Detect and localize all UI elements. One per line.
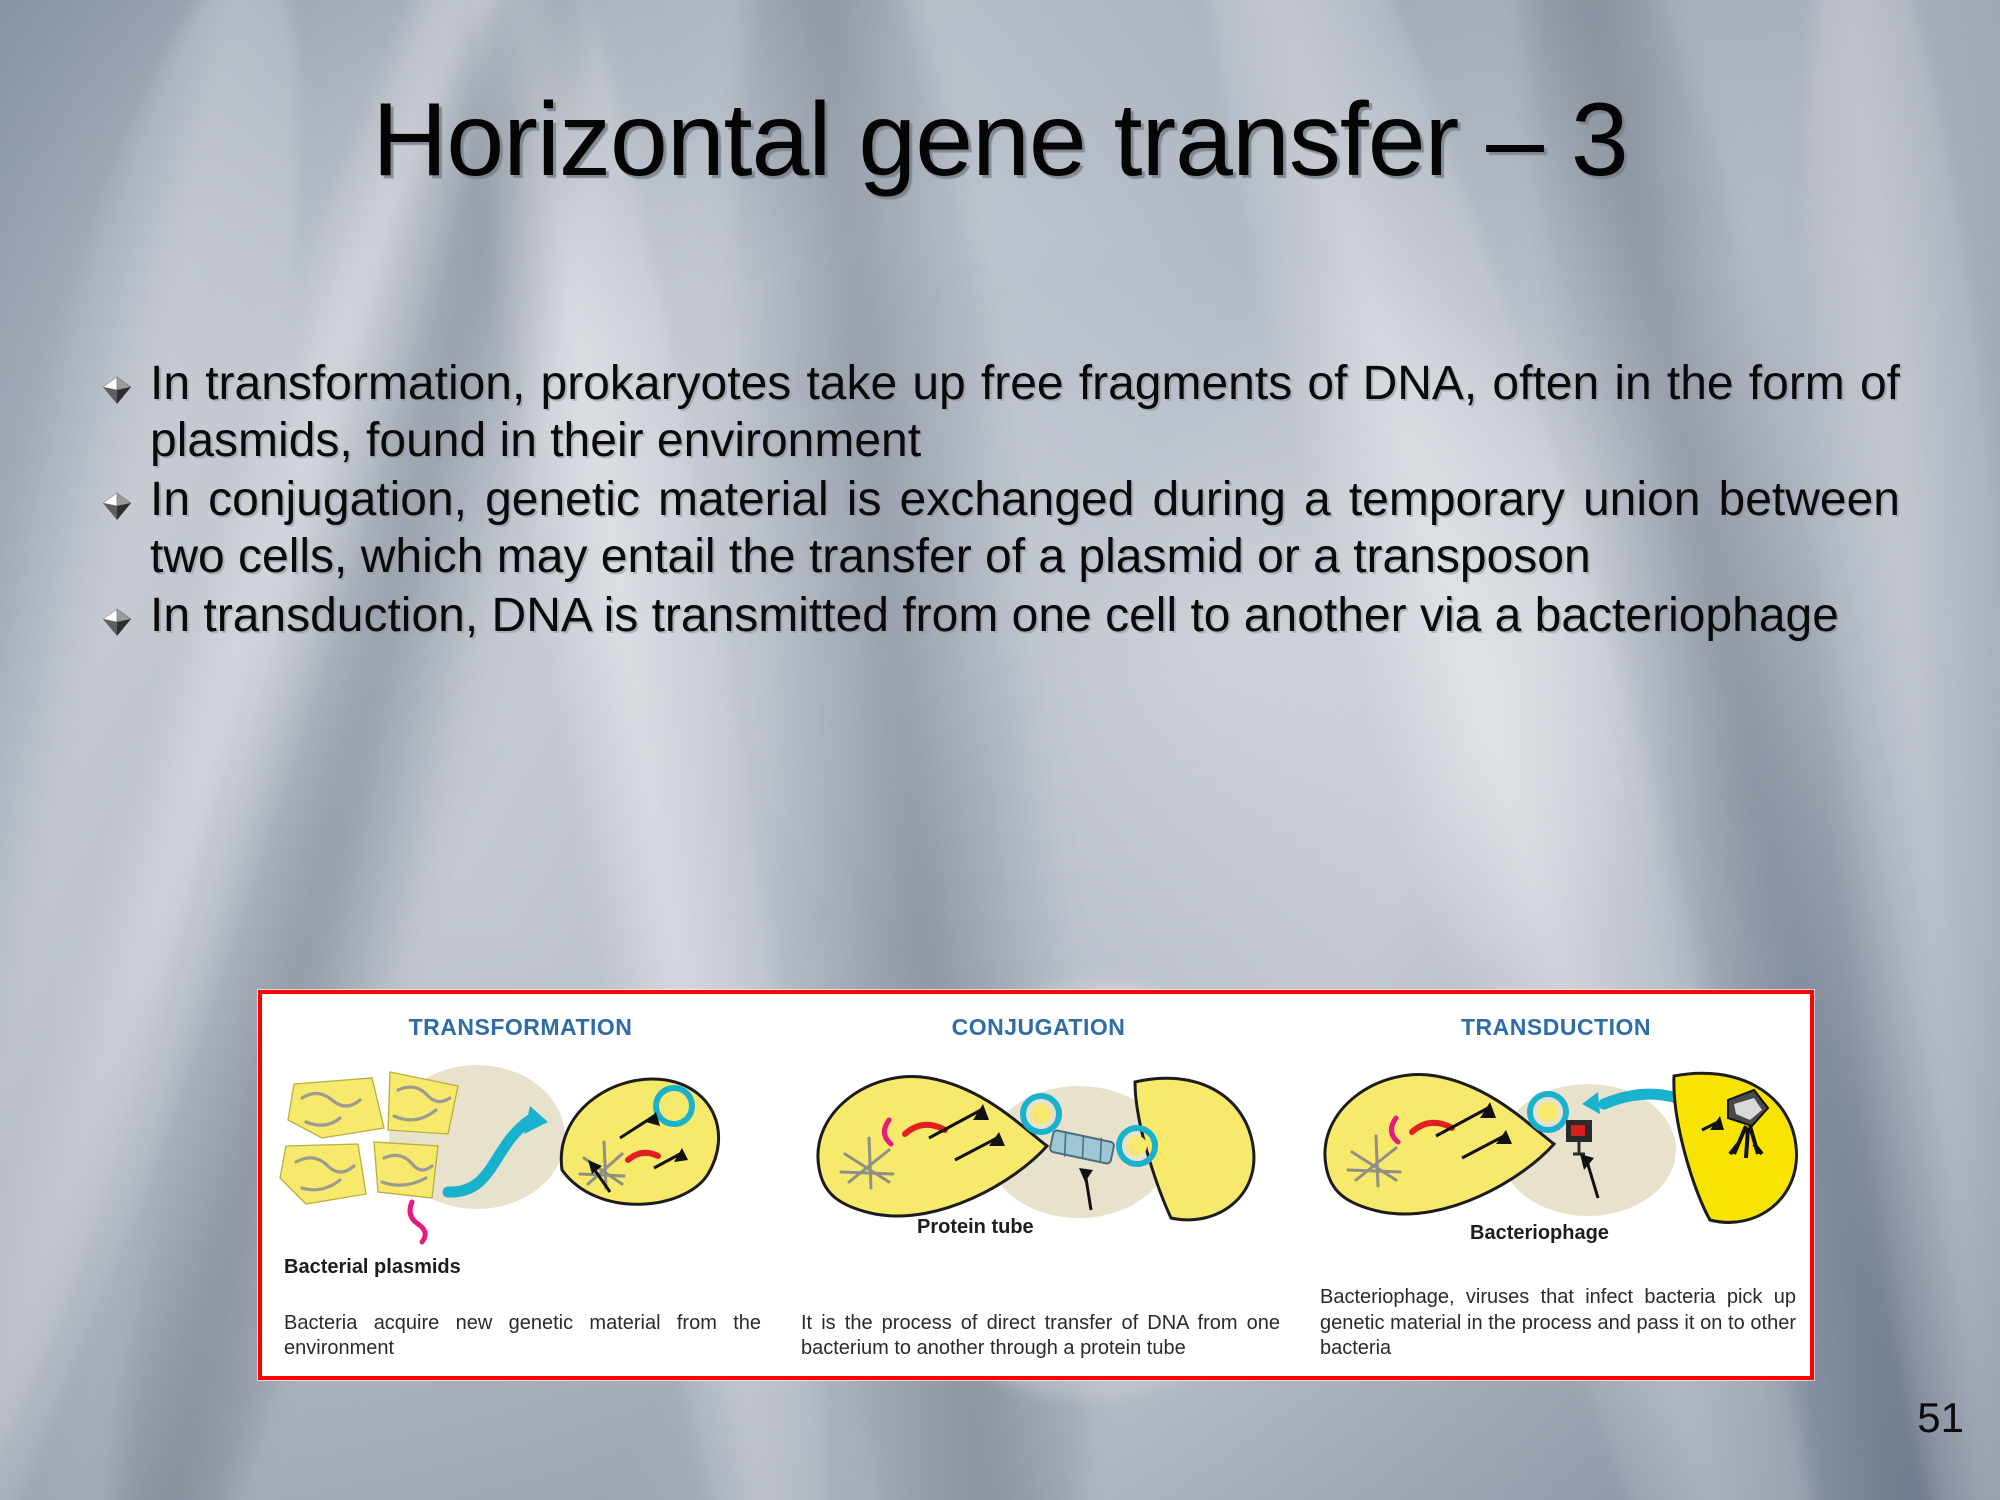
figure-panel-conjugation: CONJUGATION bbox=[779, 994, 1298, 1376]
figure-inline-label-bacterial-plasmids: Bacterial plasmids bbox=[284, 1256, 461, 1279]
figure-inline-label-bacteriophage: Bacteriophage bbox=[1470, 1222, 1609, 1245]
panel-caption: It is the process of direct transfer of … bbox=[801, 1311, 1280, 1362]
figure-panel-transduction: TRANSDUCTION bbox=[1298, 994, 1814, 1376]
list-item: In conjugation, genetic material is exch… bbox=[100, 471, 1900, 585]
panel-caption: Bacteriophage, viruses that infect bacte… bbox=[1320, 1285, 1796, 1362]
transformation-illustration bbox=[262, 1042, 779, 1252]
figure-panel-transformation: TRANSFORMATION bbox=[262, 994, 779, 1376]
panel-caption: Bacteria acquire new genetic material fr… bbox=[284, 1311, 761, 1362]
list-item-text: In transformation, prokaryotes take up f… bbox=[150, 355, 1900, 469]
slide-canvas: Horizontal gene transfer – 3 In transfor… bbox=[0, 0, 2000, 1500]
arrow-dart-bullet-icon bbox=[100, 605, 134, 639]
list-item: In transduction, DNA is transmitted from… bbox=[100, 587, 1900, 644]
bullet-list: In transformation, prokaryotes take up f… bbox=[100, 355, 1900, 647]
figure-inline-label-protein-tube: Protein tube bbox=[917, 1216, 1034, 1239]
list-item-text: In transduction, DNA is transmitted from… bbox=[150, 587, 1900, 644]
page-title: Horizontal gene transfer – 3 bbox=[0, 86, 2000, 195]
panel-title: CONJUGATION bbox=[779, 1014, 1298, 1041]
slide-number: 51 bbox=[1917, 1394, 1964, 1442]
arrow-dart-bullet-icon bbox=[100, 489, 134, 523]
transduction-illustration bbox=[1298, 1042, 1814, 1252]
panel-title: TRANSFORMATION bbox=[262, 1014, 779, 1041]
panel-title: TRANSDUCTION bbox=[1298, 1014, 1814, 1041]
conjugation-illustration bbox=[779, 1042, 1298, 1252]
list-item-text: In conjugation, genetic material is exch… bbox=[150, 471, 1900, 585]
arrow-dart-bullet-icon bbox=[100, 373, 134, 407]
list-item: In transformation, prokaryotes take up f… bbox=[100, 355, 1900, 469]
hgt-mechanisms-figure: TRANSFORMATION bbox=[258, 990, 1814, 1380]
